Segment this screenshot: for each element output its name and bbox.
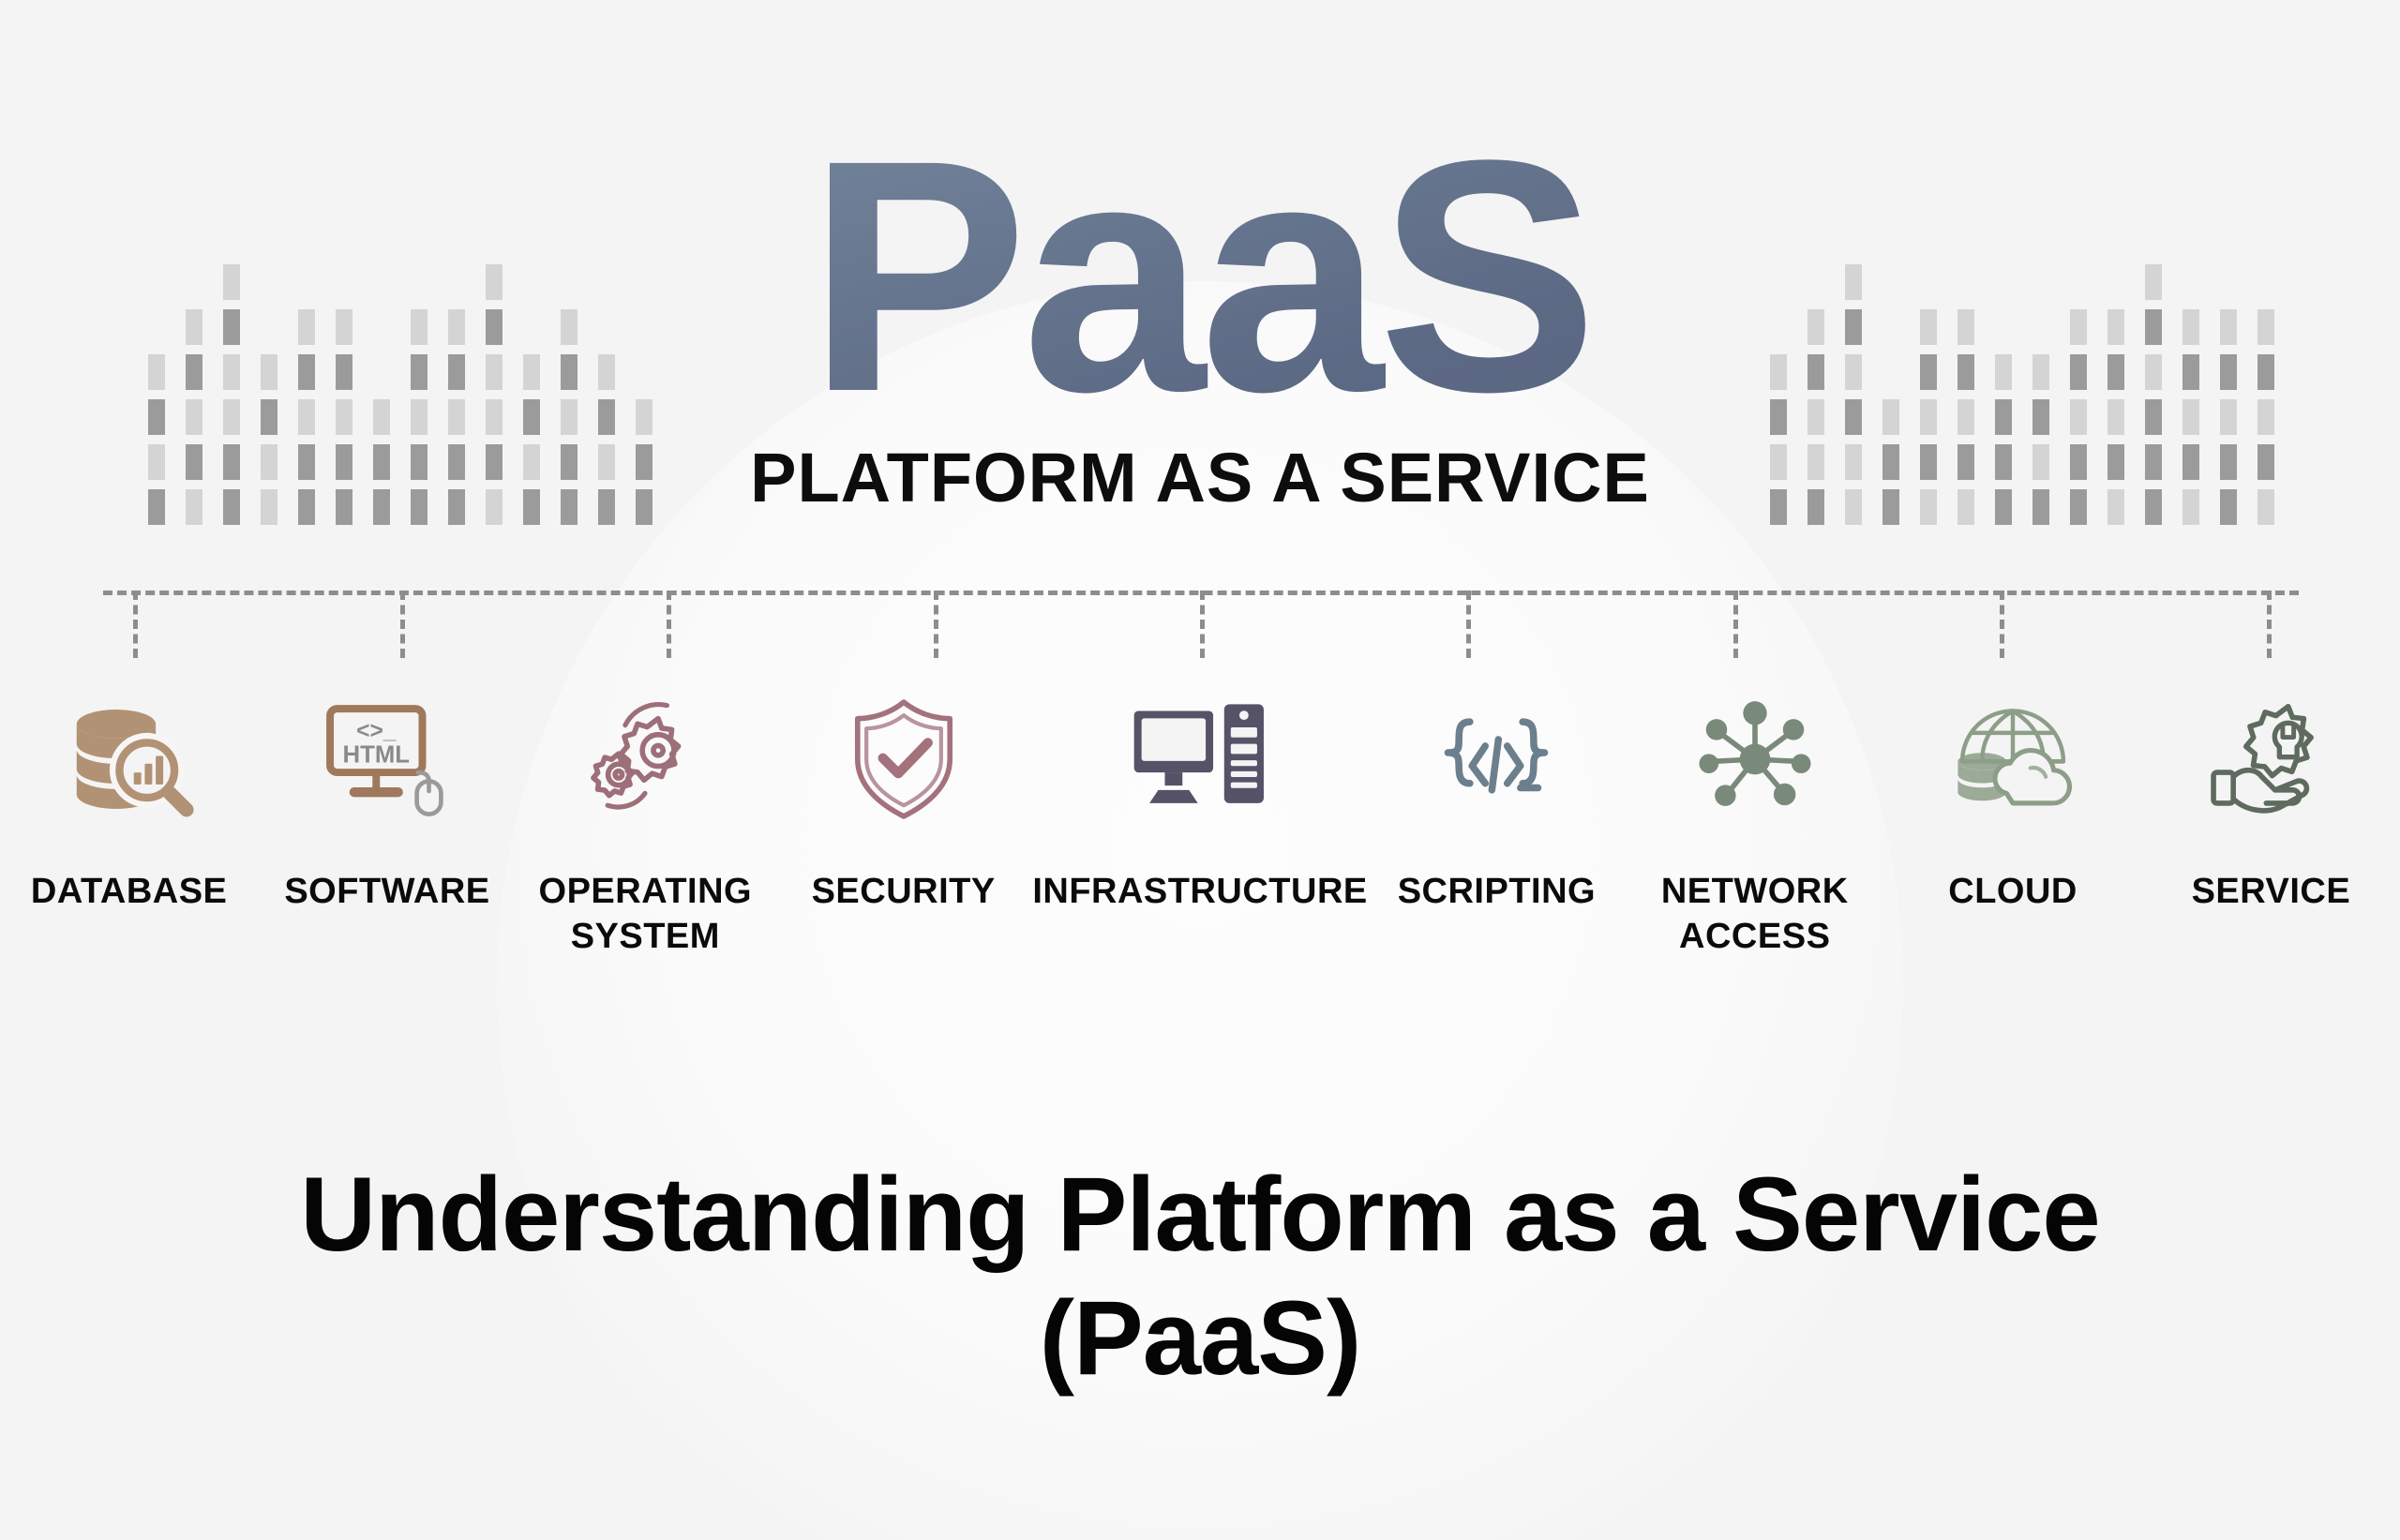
equalizer-block <box>2145 489 2162 525</box>
network-nodes-icon <box>1685 689 1825 830</box>
equalizer-block <box>1882 399 1899 435</box>
connector-drop <box>1466 591 1471 658</box>
connector-drop <box>1200 591 1205 658</box>
category-cloud[interactable]: CLOUD <box>1883 689 2141 914</box>
equalizer-column <box>2070 225 2087 525</box>
equalizer-block <box>1882 489 1899 525</box>
category-software[interactable]: <>_HTMLSOFTWARE <box>258 689 516 914</box>
connector-drop <box>667 591 671 658</box>
equalizer-block <box>2070 354 2087 390</box>
equalizer-block <box>2107 489 2124 525</box>
monitor-html-mouse-icon: <>_HTML <box>317 689 457 830</box>
category-label: DATABASE <box>31 869 227 914</box>
equalizer-block <box>2032 354 2049 390</box>
equalizer-block <box>2032 399 2049 435</box>
equalizer-block <box>1845 354 1862 390</box>
shield-check-icon <box>833 689 974 830</box>
equalizer-block <box>1995 399 2012 435</box>
equalizer-block <box>2070 399 2087 435</box>
equalizer-block <box>2182 354 2199 390</box>
equalizer-block <box>2145 309 2162 345</box>
equalizer-column <box>1920 225 1937 525</box>
equalizer-block <box>2220 354 2237 390</box>
equalizer-column <box>1845 225 1862 525</box>
equalizer-block <box>2220 309 2237 345</box>
equalizer-block <box>1807 444 1824 480</box>
equalizer-block <box>1845 489 1862 525</box>
equalizer-block <box>1807 309 1824 345</box>
equalizer-block <box>2070 444 2087 480</box>
category-label: SERVICE <box>2192 869 2351 914</box>
svg-text:HTML: HTML <box>342 742 410 769</box>
globe-cloud-database-icon <box>1942 689 2083 830</box>
equalizer-block <box>2220 444 2237 480</box>
equalizer-block <box>2220 489 2237 525</box>
equalizer-block <box>2107 309 2124 345</box>
category-label: CLOUD <box>1948 869 2077 914</box>
equalizer-block <box>2145 399 2162 435</box>
equalizer-block <box>1920 399 1937 435</box>
category-operating-system[interactable]: OPERATING SYSTEM <box>517 689 774 959</box>
equalizer-block <box>2182 309 2199 345</box>
equalizer-column <box>1995 225 2012 525</box>
equalizer-block <box>2145 264 2162 300</box>
equalizer-block <box>1882 444 1899 480</box>
equalizer-column <box>2257 225 2274 525</box>
equalizer-block <box>2257 489 2274 525</box>
desktop-server-tower-icon <box>1130 689 1270 830</box>
equalizer-block <box>1920 309 1937 345</box>
equalizer-block <box>2070 309 2087 345</box>
equalizer-block <box>2182 444 2199 480</box>
equalizer-block <box>1807 399 1824 435</box>
equalizer-column <box>2145 225 2162 525</box>
connector-drop <box>2267 591 2272 658</box>
equalizer-block <box>1845 399 1862 435</box>
equalizer-column <box>2032 225 2049 525</box>
category-label: OPERATING SYSTEM <box>539 869 753 959</box>
category-label: SOFTWARE <box>284 869 489 914</box>
category-label: SCRIPTING <box>1398 869 1596 914</box>
connector-drop <box>133 591 138 658</box>
equalizer-block <box>2182 399 2199 435</box>
category-scripting[interactable]: SCRIPTING <box>1368 689 1626 914</box>
infographic-canvas: PaaS PLATFORM AS A SERVICE DATABASE<>_HT… <box>0 0 2400 1540</box>
equalizer-block <box>1770 489 1787 525</box>
equalizer-block <box>1957 489 1974 525</box>
equalizer-column <box>2107 225 2124 525</box>
equalizer-block <box>1807 354 1824 390</box>
equalizer-block <box>2220 399 2237 435</box>
equalizer-block <box>1770 399 1787 435</box>
equalizer-block <box>1957 354 1974 390</box>
equalizer-block <box>2145 444 2162 480</box>
equalizer-block <box>1845 309 1862 345</box>
equalizer-block <box>2257 309 2274 345</box>
equalizer-block <box>1845 264 1862 300</box>
category-service[interactable]: SERVICE <box>2142 689 2400 914</box>
gears-icon <box>575 689 715 830</box>
equalizer-block <box>2070 489 2087 525</box>
equalizer-block <box>2257 399 2274 435</box>
category-label: NETWORK ACCESS <box>1661 869 1849 959</box>
equalizer-column <box>2182 225 2199 525</box>
category-security[interactable]: SECURITY <box>774 689 1032 914</box>
connector-drop <box>2000 591 2004 658</box>
equalizer-block <box>1995 354 2012 390</box>
hand-gear-wrench-icon <box>2200 689 2341 830</box>
connector-drop <box>934 591 938 658</box>
connector-drop <box>1733 591 1738 658</box>
equalizer-block <box>2032 489 2049 525</box>
svg-text:<>_: <>_ <box>356 719 397 744</box>
equalizer-block <box>1920 444 1937 480</box>
equalizer-block <box>2257 354 2274 390</box>
equalizer-block <box>1957 309 1974 345</box>
equalizer-column <box>2220 225 2237 525</box>
category-icon-row: DATABASE<>_HTMLSOFTWAREOPERATING SYSTEMS… <box>0 689 2400 959</box>
equalizer-block <box>2107 399 2124 435</box>
connector-drop <box>400 591 405 658</box>
page-title: Understanding Platform as a Service (Paa… <box>0 1153 2400 1400</box>
equalizer-block <box>2107 444 2124 480</box>
equalizer-block <box>1920 489 1937 525</box>
database-magnifier-icon <box>59 689 200 830</box>
equalizer-column <box>1957 225 1974 525</box>
equalizer-block <box>1770 354 1787 390</box>
code-braces-icon <box>1426 689 1567 830</box>
equalizer-block <box>1995 444 2012 480</box>
category-label: INFRASTRUCTURE <box>1032 869 1367 914</box>
category-infrastructure[interactable]: INFRASTRUCTURE <box>1032 689 1367 914</box>
equalizer-block <box>1957 444 1974 480</box>
connector-bracket <box>103 591 2299 671</box>
equalizer-block <box>2032 444 2049 480</box>
equalizer-block <box>1995 489 2012 525</box>
equalizer-block <box>1957 399 1974 435</box>
equalizer-column <box>1770 225 1787 525</box>
equalizer-column <box>1807 225 1824 525</box>
equalizer-block <box>2145 354 2162 390</box>
equalizer-block <box>1807 489 1824 525</box>
equalizer-block <box>2182 489 2199 525</box>
equalizer-block <box>1920 354 1937 390</box>
equalizer-block <box>1845 444 1862 480</box>
equalizer-block <box>2107 354 2124 390</box>
equalizer-block <box>2257 444 2274 480</box>
equalizer-column <box>1882 225 1899 525</box>
category-network-access[interactable]: NETWORK ACCESS <box>1626 689 1883 959</box>
equalizer-decoration-right <box>1770 225 2274 525</box>
equalizer-block <box>1770 444 1787 480</box>
category-database[interactable]: DATABASE <box>0 689 258 914</box>
category-label: SECURITY <box>812 869 996 914</box>
